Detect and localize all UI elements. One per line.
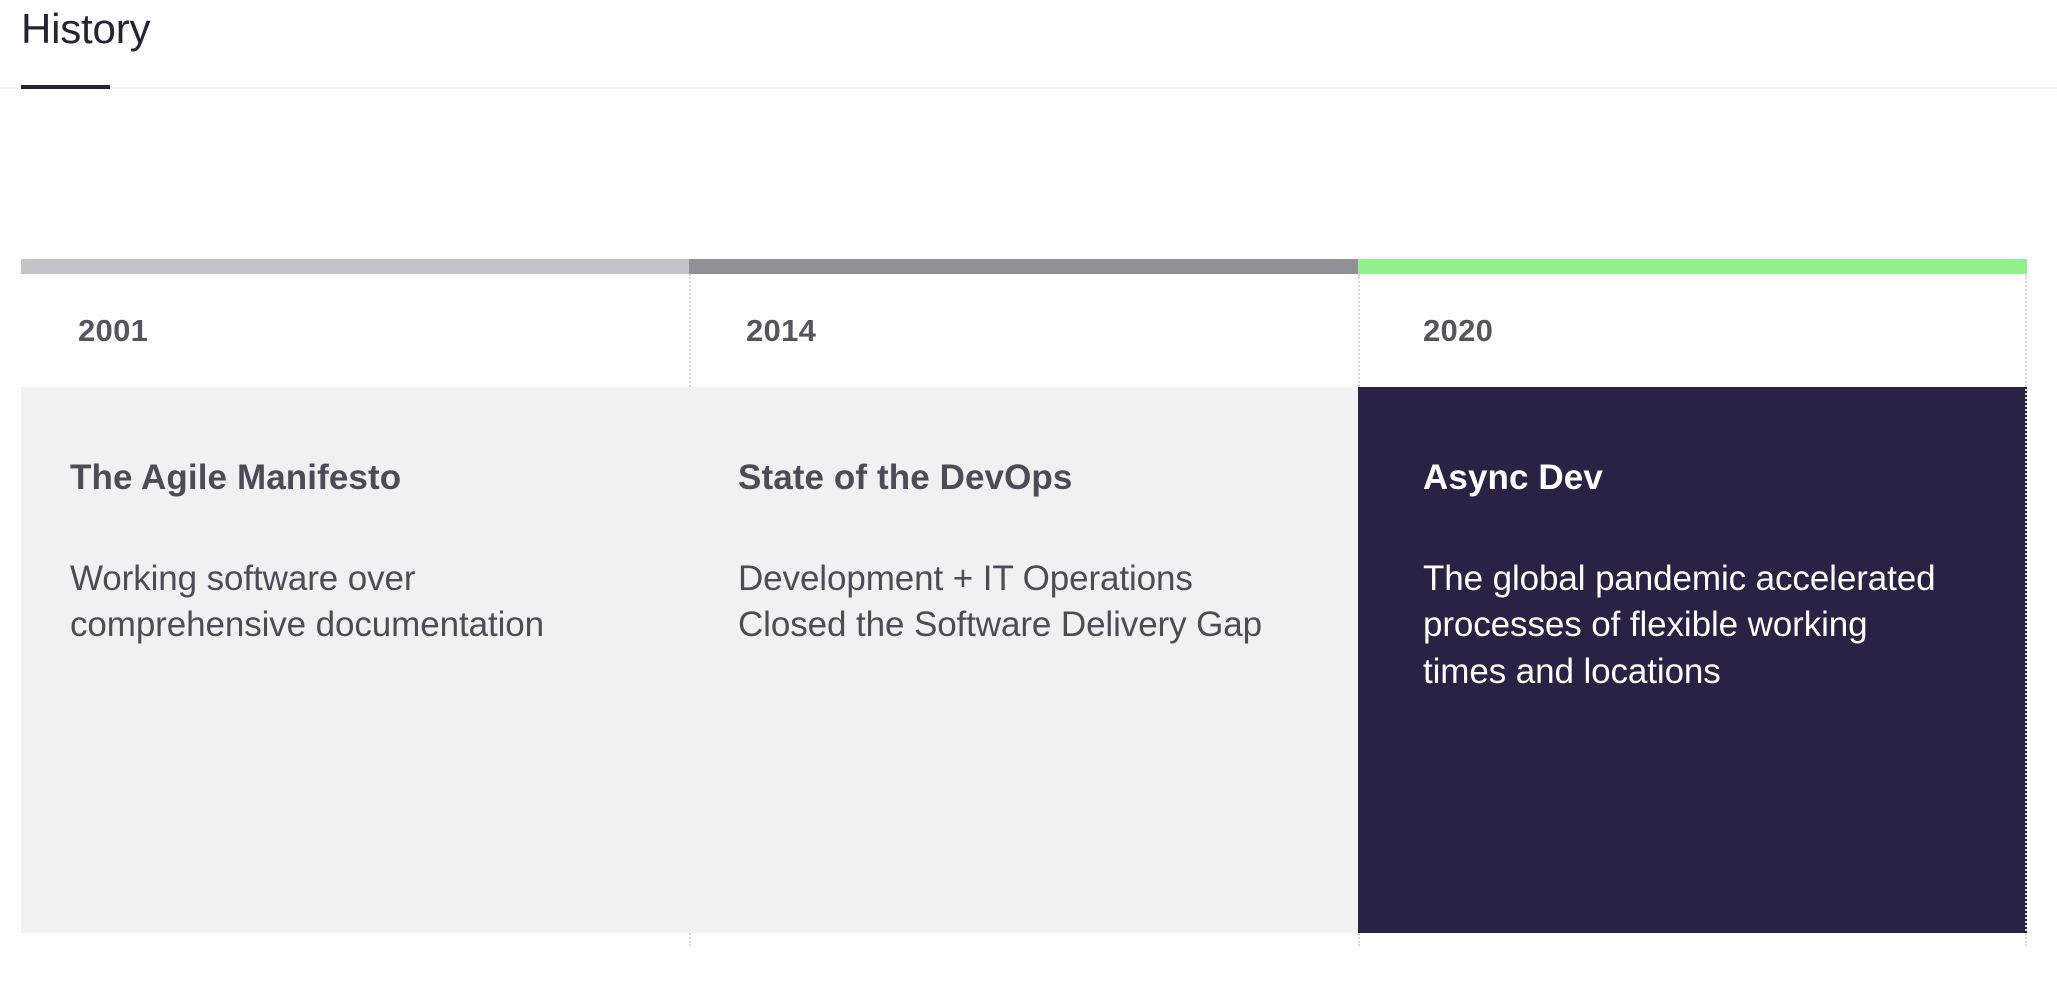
milestone-card-2014[interactable]: State of the DevOps Development + IT Ope… [689,387,1358,933]
milestone-title: State of the DevOps [738,459,1301,498]
milestone-body: Development + IT Operations Closed the S… [738,556,1301,650]
milestone-body: The global pandemic accelerated processe… [1423,556,1957,697]
timeline-bar-segment-2020 [1358,259,2027,274]
milestone-card-2020[interactable]: Async Dev The global pandemic accelerate… [1358,387,2027,933]
tab-bar: History [0,0,2057,89]
milestone-body: Working software over comprehensive docu… [70,556,632,650]
timeline-columns: 2001 The Agile Manifesto Working softwar… [21,274,2027,946]
timeline-bar [21,259,2027,274]
timeline-year-label: 2001 [21,274,689,387]
milestone-title: The Agile Manifesto [70,459,632,498]
milestone-card-2001[interactable]: The Agile Manifesto Working software ove… [21,387,689,933]
timeline-year-label: 2020 [1358,274,2027,387]
tab-active-indicator [21,85,110,89]
timeline-column-2020[interactable]: 2020 Async Dev The global pandemic accel… [1358,274,2027,946]
timeline-bar-segment-2014 [689,259,1358,274]
milestone-title: Async Dev [1423,459,1957,498]
tab-history[interactable]: History [21,0,150,89]
tab-history-label: History [21,0,150,50]
history-timeline: 2001 The Agile Manifesto Working softwar… [21,259,2027,946]
timeline-bar-segment-2001 [21,259,689,274]
timeline-year-label: 2014 [689,274,1358,387]
timeline-column-2014[interactable]: 2014 State of the DevOps Development + I… [689,274,1358,946]
timeline-column-2001[interactable]: 2001 The Agile Manifesto Working softwar… [21,274,689,946]
